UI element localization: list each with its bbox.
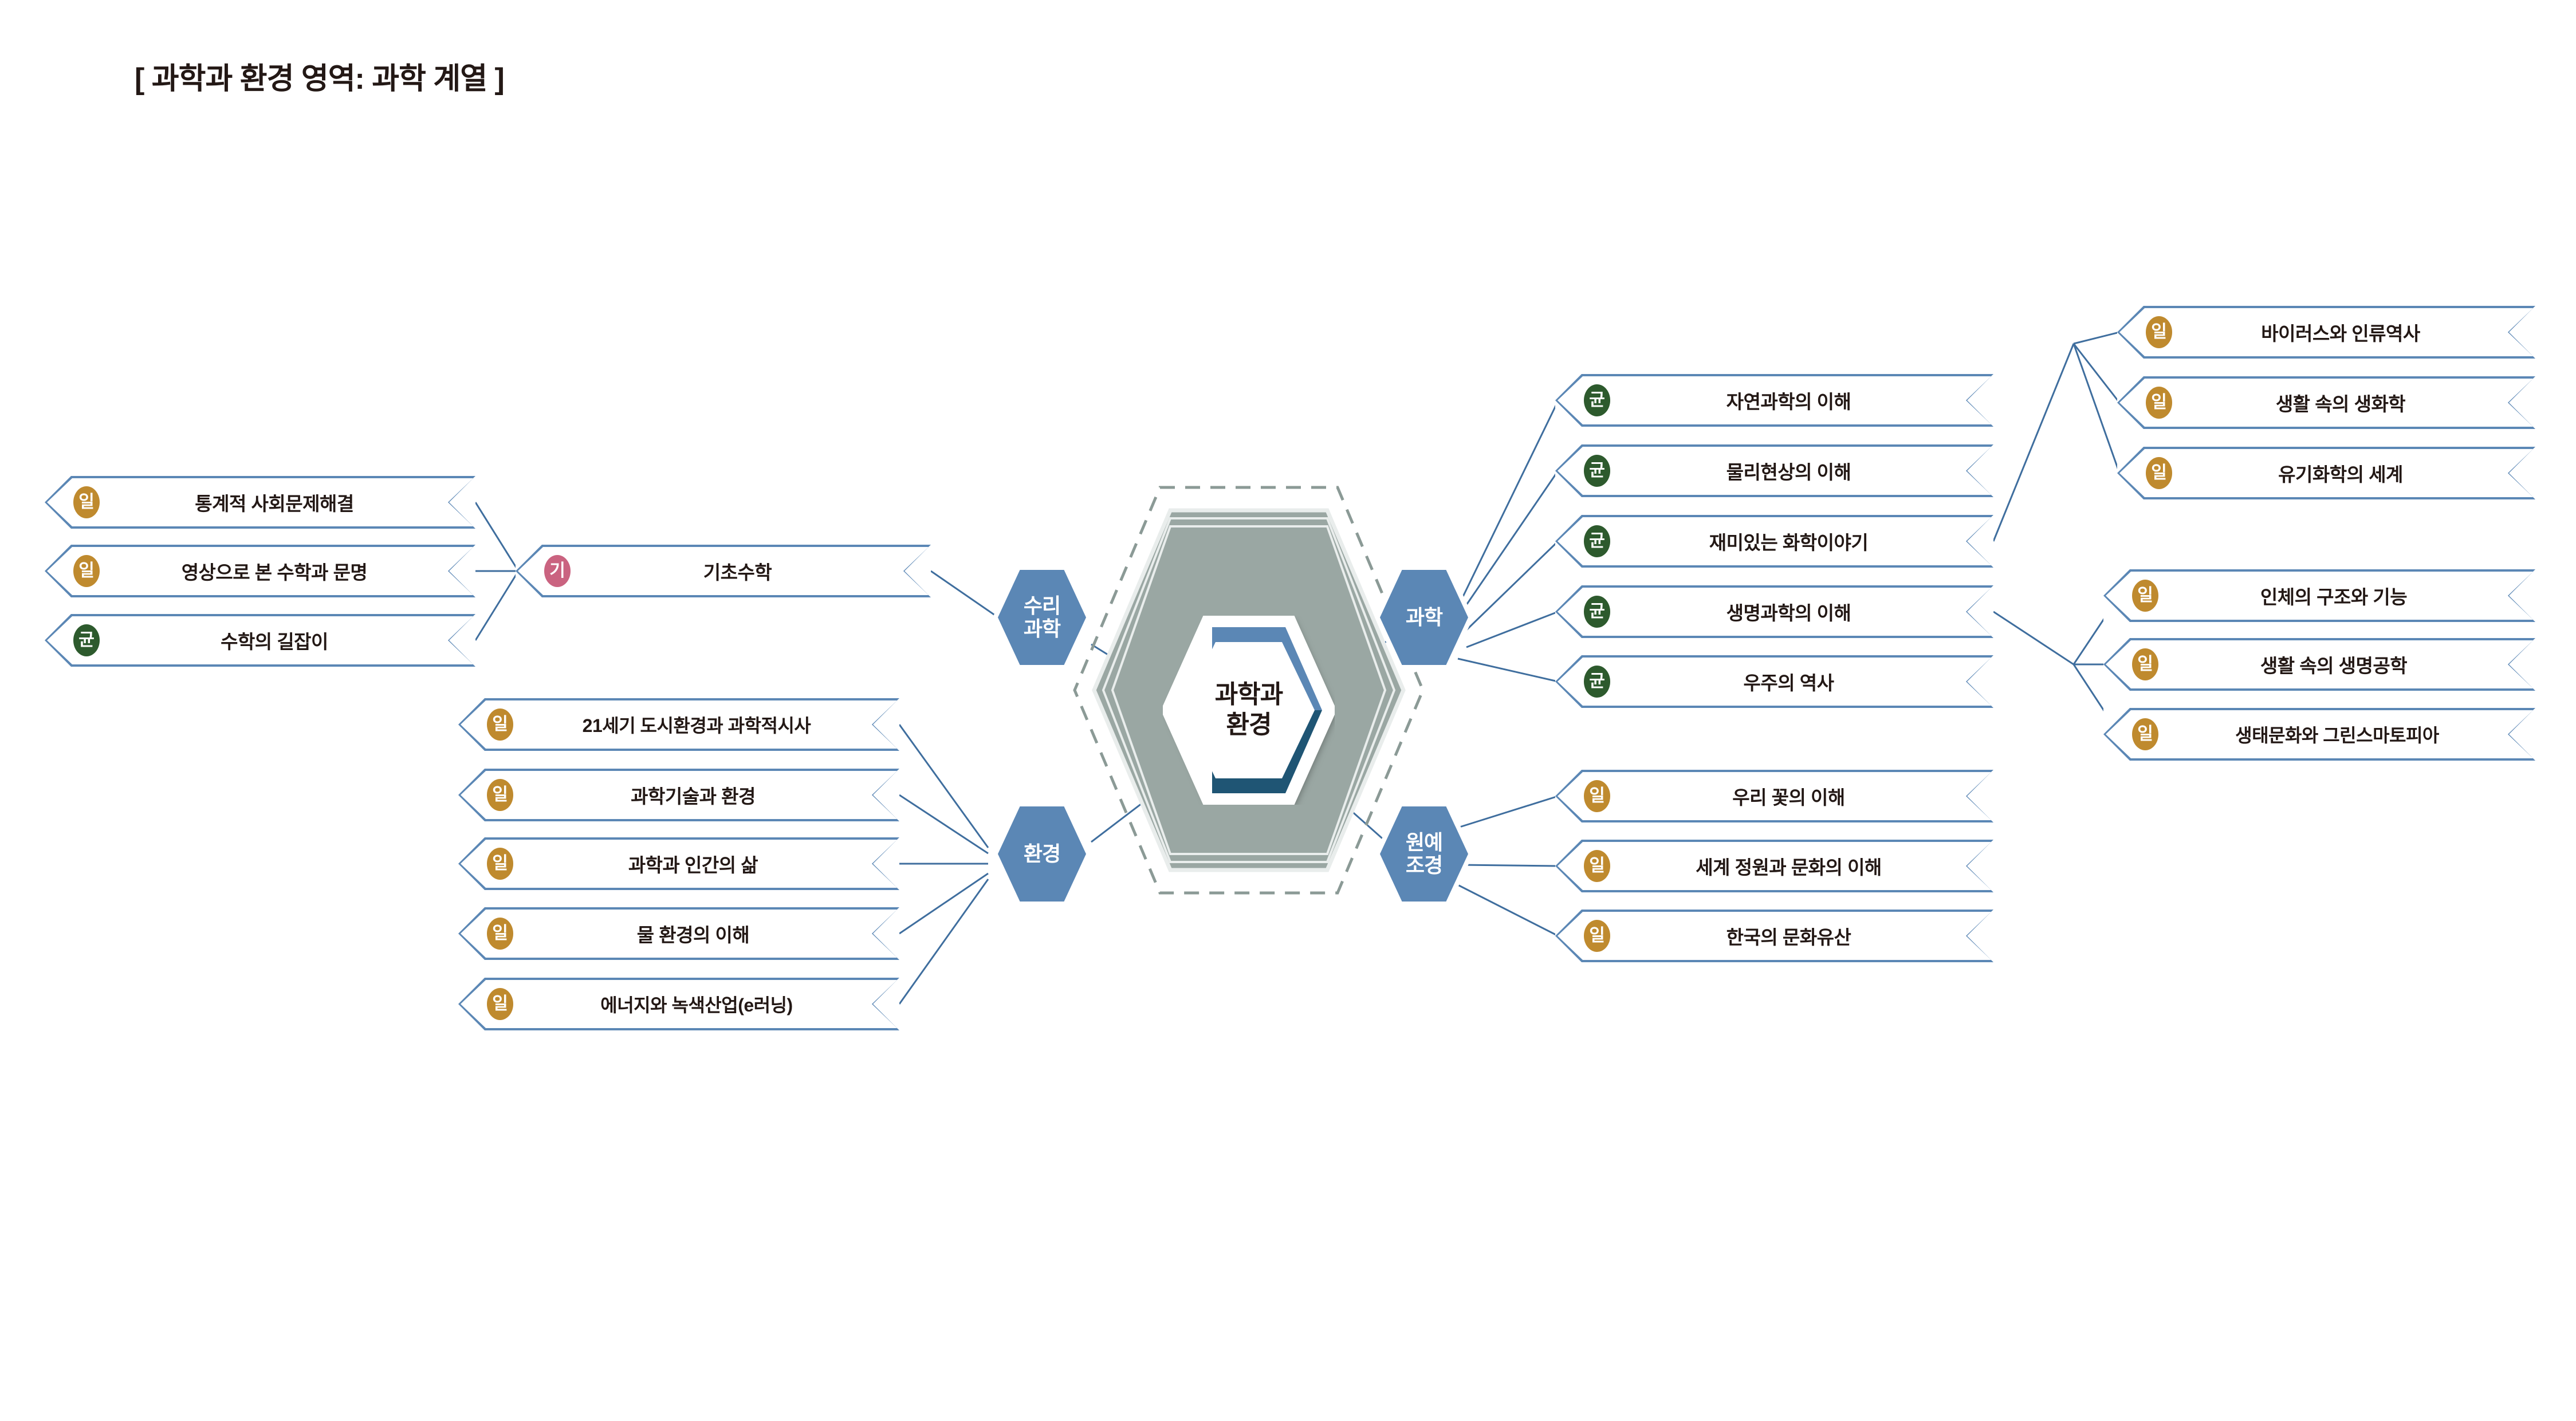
badge-il: 일: [487, 848, 513, 880]
course-label: 인체의 구조와 기능: [2163, 582, 2504, 609]
badge-gyun: 균: [1584, 596, 1610, 628]
course-item-natural-science[interactable]: 균 자연과학의 이해: [1555, 374, 1993, 427]
course-label: 21세기 도시환경과 과학적시사: [513, 711, 880, 738]
course-label: 물 환경의 이해: [518, 920, 868, 947]
course-item-korean-flowers[interactable]: 일 우리 꽃의 이해: [1555, 770, 1993, 822]
hex-label-science: 과학: [1406, 606, 1442, 629]
badge-il: 일: [2146, 387, 2172, 419]
badge-gyun: 균: [1584, 384, 1610, 416]
badge-gyun: 균: [73, 624, 100, 656]
course-item-world-gardens[interactable]: 일 세계 정원과 문화의 이해: [1555, 840, 1993, 892]
badge-il: 일: [487, 918, 513, 950]
course-item-biochemistry[interactable]: 일 생활 속의 생화학: [2117, 376, 2535, 429]
badge-il: 일: [487, 779, 513, 811]
badge-il: 일: [2132, 580, 2158, 612]
course-item-organic-chemistry[interactable]: 일 유기화학의 세계: [2117, 447, 2535, 499]
hex-node-horticulture[interactable]: 원예 조경: [1375, 801, 1473, 907]
course-label: 영상으로 본 수학과 문명: [104, 557, 445, 585]
center-label: 과학과 환경: [1163, 616, 1335, 805]
course-item-science-human-life[interactable]: 일 과학과 인간의 삶: [458, 837, 899, 890]
badge-gyun: 균: [1584, 455, 1610, 487]
course-item-chemistry-story[interactable]: 균 재미있는 화학이야기: [1555, 515, 1993, 568]
badge-il: 일: [73, 555, 100, 587]
badge-il: 일: [73, 486, 100, 518]
course-item-human-body[interactable]: 일 인체의 구조와 기능: [2103, 569, 2535, 622]
course-item-video-math[interactable]: 일 영상으로 본 수학과 문명: [45, 545, 475, 597]
course-item-universe-history[interactable]: 균 우주의 역사: [1555, 655, 1993, 708]
course-item-life-science[interactable]: 균 생명과학의 이해: [1555, 585, 1993, 638]
hex-label-math-science: 수리 과학: [1024, 595, 1060, 641]
page-title: [ 과학과 환경 영역: 과학 계열 ]: [135, 54, 504, 97]
course-label: 수학의 길잡이: [104, 627, 445, 654]
badge-il: 일: [487, 708, 513, 741]
diagram-canvas: [ 과학과 환경 영역: 과학 계열 ]: [0, 0, 2576, 1421]
course-item-basic-math[interactable]: 기 기초수학: [516, 545, 931, 597]
badge-il: 일: [2146, 457, 2172, 489]
course-label: 에너지와 녹색산업(e러닝): [513, 991, 880, 1017]
course-label: 유기화학의 세계: [2177, 459, 2504, 487]
course-label: 재미있는 화학이야기: [1615, 528, 1963, 555]
center-cluster: 과학과 환경: [1071, 484, 1426, 896]
badge-gi: 기: [544, 555, 571, 587]
course-item-water-env[interactable]: 일 물 환경의 이해: [458, 907, 899, 960]
course-item-statistics[interactable]: 일 통계적 사회문제해결: [45, 476, 475, 529]
badge-il: 일: [2146, 316, 2172, 348]
course-label: 바이러스와 인류역사: [2177, 318, 2504, 346]
course-label: 세계 정원과 문화의 이해: [1615, 852, 1963, 880]
badge-gyun: 균: [1584, 666, 1610, 698]
course-label: 우리 꽃의 이해: [1615, 782, 1963, 810]
hex-label-horticulture: 원예 조경: [1406, 831, 1442, 877]
course-label: 생활 속의 생화학: [2177, 389, 2504, 416]
badge-il: 일: [1584, 780, 1610, 812]
badge-il: 일: [1584, 920, 1610, 952]
course-label: 우주의 역사: [1615, 668, 1963, 695]
course-label: 한국의 문화유산: [1615, 922, 1963, 950]
course-item-virus-history[interactable]: 일 바이러스와 인류역사: [2117, 306, 2535, 359]
hex-node-environment[interactable]: 환경: [993, 801, 1091, 907]
course-label: 과학과 인간의 삶: [518, 850, 868, 877]
course-label: 생명과학의 이해: [1615, 598, 1963, 625]
course-item-energy-green[interactable]: 일 에너지와 녹색산업(e러닝): [458, 978, 899, 1030]
badge-il: 일: [2132, 648, 2158, 680]
course-item-sci-tech-env[interactable]: 일 과학기술과 환경: [458, 769, 899, 821]
badge-gyun: 균: [1584, 525, 1610, 557]
course-item-math-guide[interactable]: 균 수학의 길잡이: [45, 614, 475, 667]
course-label: 생태문화와 그린스마토피아: [2158, 721, 2516, 747]
course-item-eco-culture[interactable]: 일 생태문화와 그린스마토피아: [2103, 708, 2535, 761]
course-label: 기초수학: [575, 557, 900, 585]
course-label: 통계적 사회문제해결: [104, 489, 445, 516]
course-item-physics[interactable]: 균 물리현상의 이해: [1555, 444, 1993, 497]
hex-node-science[interactable]: 과학: [1375, 564, 1473, 671]
badge-il: 일: [1584, 850, 1610, 882]
badge-il: 일: [2132, 718, 2158, 750]
course-item-korean-heritage[interactable]: 일 한국의 문화유산: [1555, 910, 1993, 962]
course-label: 자연과학의 이해: [1615, 387, 1963, 414]
course-label: 생활 속의 생명공학: [2163, 651, 2504, 678]
course-label: 물리현상의 이해: [1615, 457, 1963, 485]
course-label: 과학기술과 환경: [518, 781, 868, 809]
hex-node-math-science[interactable]: 수리 과학: [993, 564, 1091, 671]
badge-il: 일: [487, 988, 513, 1020]
course-item-biotech[interactable]: 일 생활 속의 생명공학: [2103, 638, 2535, 691]
course-item-urban-env[interactable]: 일 21세기 도시환경과 과학적시사: [458, 698, 899, 751]
hex-label-environment: 환경: [1024, 843, 1060, 865]
